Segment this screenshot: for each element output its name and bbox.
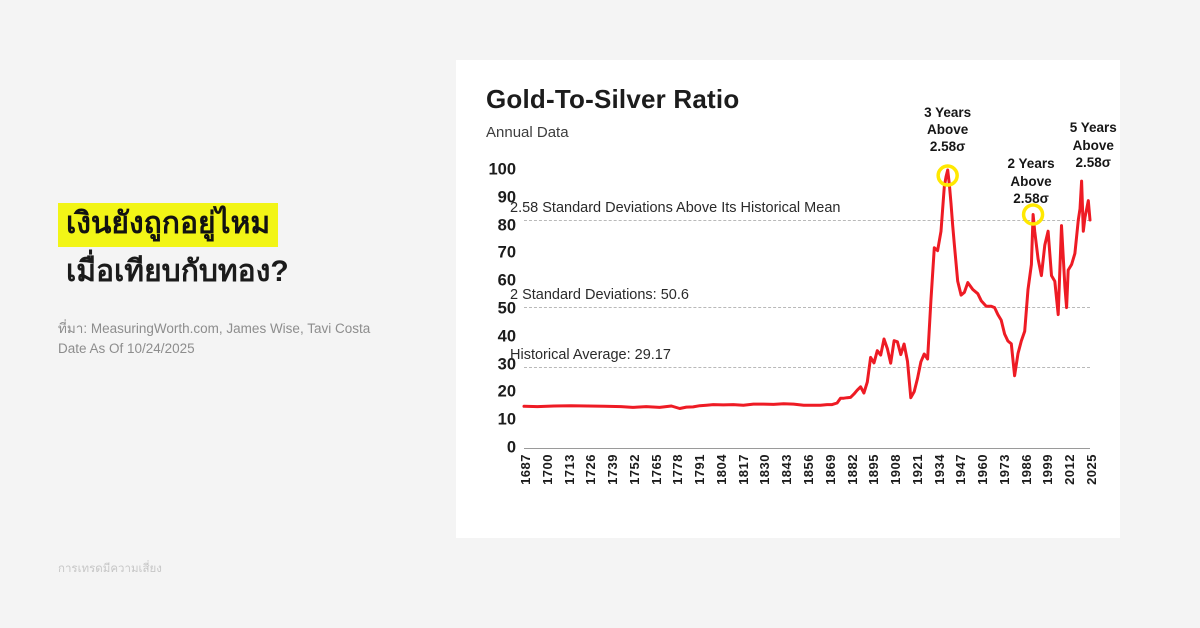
source-line-1: ที่มา: MeasuringWorth.com, James Wise, T…	[58, 319, 438, 339]
risk-disclaimer: การเทรดมีความเสี่ยง	[58, 560, 162, 578]
headline-line-1: เงินยังถูกอยู่ไหม	[58, 203, 278, 247]
source-attribution: ที่มา: MeasuringWorth.com, James Wise, T…	[58, 319, 438, 358]
headline-line-2: เมื่อเทียบกับทอง?	[58, 253, 428, 291]
left-panel: เงินยังถูกอยู่ไหม เมื่อเทียบกับทอง? ที่ม…	[0, 0, 456, 628]
annotation-5-years-above: 5 Years Above 2.58σ	[1051, 119, 1135, 171]
annotation-3-years-above: 3 Years Above 2.58σ	[906, 104, 990, 156]
source-line-2: Date As Of 10/24/2025	[58, 339, 438, 359]
chart-card: Gold-To-Silver Ratio Annual Data 1009080…	[456, 60, 1120, 538]
chart-overlay	[456, 60, 1120, 538]
poster-canvas: เงินยังถูกอยู่ไหม เมื่อเทียบกับทอง? ที่ม…	[0, 0, 1200, 628]
headline: เงินยังถูกอยู่ไหม เมื่อเทียบกับทอง?	[58, 203, 428, 290]
